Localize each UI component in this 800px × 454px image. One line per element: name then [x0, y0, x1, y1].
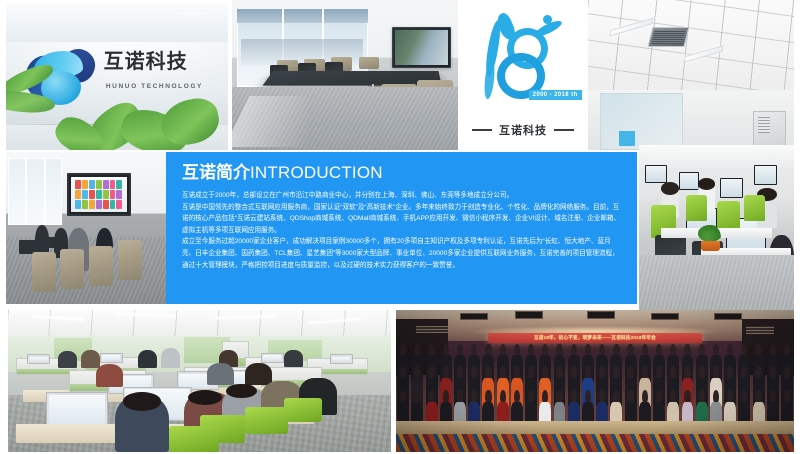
person [96, 364, 123, 387]
glass-partition [600, 93, 682, 150]
monitor-icon [645, 165, 667, 183]
person [161, 348, 180, 368]
monitor-icon [754, 165, 777, 185]
lobby-logo-chinese-name: 互诺科技 [104, 52, 188, 72]
ceiling-air-vent [647, 27, 689, 47]
intro-paragraph-3: 成立至今服务过超20000家企业客户，成功解决项目案例30000多个，拥有20多… [182, 236, 623, 271]
anniversary-logo-panel: 2000 - 2018 th 互诺科技 [462, 0, 584, 150]
potted-plant-icon [701, 228, 720, 251]
screen-app-icons [75, 180, 122, 209]
wall-mounted-screen [67, 173, 131, 216]
monitor-icon [720, 178, 743, 198]
photo-office-ceiling-corridor [588, 0, 794, 150]
photo-large-open-office [8, 310, 391, 452]
lobby-logo-english-name: HUNUO TECHNOLOGY [106, 83, 203, 90]
rule-left-icon [472, 129, 492, 130]
lobby-ceiling [6, 4, 228, 42]
rule-right-icon [554, 129, 574, 130]
person [138, 350, 157, 368]
intro-paragraphs: 互诺成立于2000年，总部设立在广州市沿江中路商业中心，并分别在上海、深圳、佛山… [182, 190, 623, 271]
monitor-icon [46, 392, 107, 426]
meeting-room-tv-display [392, 27, 451, 68]
anniversary-company-name: 互诺科技 [462, 122, 584, 138]
meeting-room-window-blind [237, 9, 368, 23]
company-profile-poster: 互诺科技 HUNUO TECHNOLOGY [0, 0, 800, 454]
person [58, 351, 77, 368]
introduction-banner: 互诺简介INTRODUCTION 互诺成立于2000年，总部设立在广州市沿江中路… [166, 152, 637, 304]
photo-annual-meeting-group: 互诺18年，初心不变，筑梦未来——互诺科技2018年年会 [396, 310, 794, 452]
person-head [661, 182, 680, 195]
big-office-ceiling [8, 310, 391, 338]
intro-paragraph-2: 互诺是中国领先的整合式互联网应用服务商，国家认证“双软”及“高新技术”企业。多年… [182, 202, 623, 237]
intro-title: 互诺简介INTRODUCTION [182, 164, 623, 181]
photo-small-meeting-room [6, 152, 166, 304]
person [284, 350, 303, 367]
person-head [123, 392, 161, 410]
suspended-ceiling-grid [588, 0, 794, 93]
anniversary-years-badge: 2000 - 2018 th [529, 90, 582, 100]
person [207, 363, 234, 386]
monitor-icon [679, 172, 699, 190]
intro-title-chinese: 互诺简介 [182, 163, 250, 182]
person [245, 363, 272, 386]
monitor-icon [100, 353, 123, 363]
person-head [698, 178, 715, 190]
photo-open-office-workstations [639, 145, 794, 311]
small-room-window [8, 158, 62, 225]
photo-lobby-logo-wall: 互诺科技 HUNUO TECHNOLOGY [6, 4, 228, 150]
intro-title-english: INTRODUCTION [250, 163, 383, 182]
open-office-floor [639, 255, 794, 311]
photo-vignette [396, 310, 794, 452]
person-head [226, 384, 257, 398]
monitor-icon [27, 354, 50, 364]
person [81, 350, 100, 368]
intro-paragraph-1: 互诺成立于2000年，总部设立在广州市沿江中路商业中心，并分别在上海、深圳、佛山… [182, 190, 623, 202]
monitor-icon [261, 353, 284, 363]
photo-large-meeting-room [232, 0, 458, 150]
monitor-icon [330, 354, 353, 364]
